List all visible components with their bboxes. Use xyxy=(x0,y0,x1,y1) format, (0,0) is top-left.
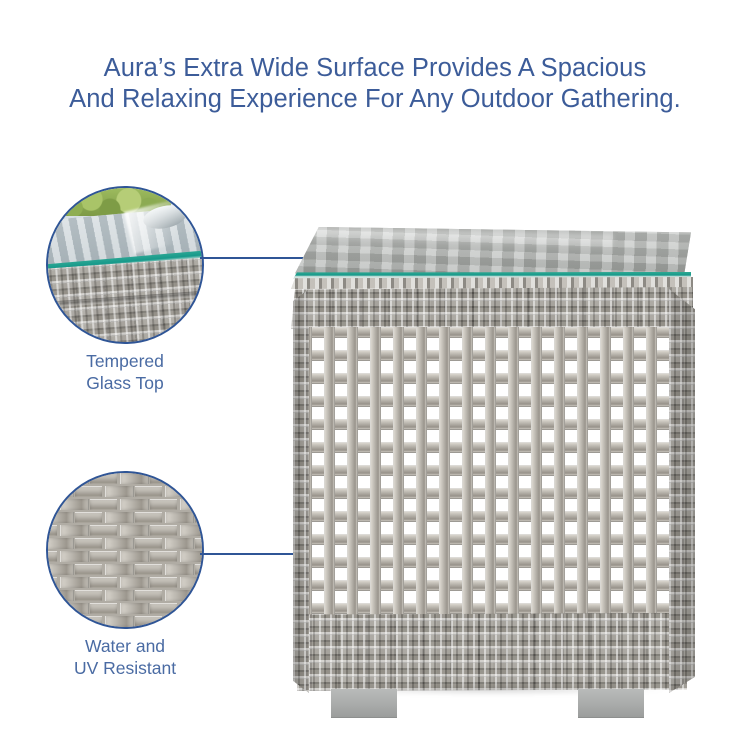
table-top-rim xyxy=(291,277,693,289)
callout-label-wicker-line-2: UV Resistant xyxy=(45,657,205,679)
product-feature-graphic: Aura’s Extra Wide Surface Provides A Spa… xyxy=(0,0,750,750)
table-foot-right xyxy=(578,689,644,718)
page-title: Aura’s Extra Wide Surface Provides A Spa… xyxy=(0,53,750,115)
table-left-corner-post xyxy=(293,289,309,693)
table-foot-left xyxy=(331,689,397,718)
callout-label-glass-top-line-1: Tempered xyxy=(45,350,205,372)
headline-line-1: Aura’s Extra Wide Surface Provides A Spa… xyxy=(104,54,647,82)
callout-label-glass-top: Tempered Glass Top xyxy=(45,350,205,394)
callout-label-wicker-weave: Water and UV Resistant xyxy=(45,635,205,679)
table-upper-weave-band xyxy=(291,287,693,329)
callout-label-wicker-line-1: Water and xyxy=(45,635,205,657)
table-front-lattice-panel xyxy=(301,327,683,615)
callout-image-glass-top xyxy=(46,186,204,344)
table-right-side-panel xyxy=(669,289,695,693)
table-lower-weave-band xyxy=(297,613,687,691)
product-image-side-table xyxy=(283,215,703,710)
callout-label-glass-top-line-2: Glass Top xyxy=(45,372,205,394)
headline-line-2: And Relaxing Experience For Any Outdoor … xyxy=(0,84,750,115)
callout-image-wicker-weave xyxy=(46,471,204,629)
